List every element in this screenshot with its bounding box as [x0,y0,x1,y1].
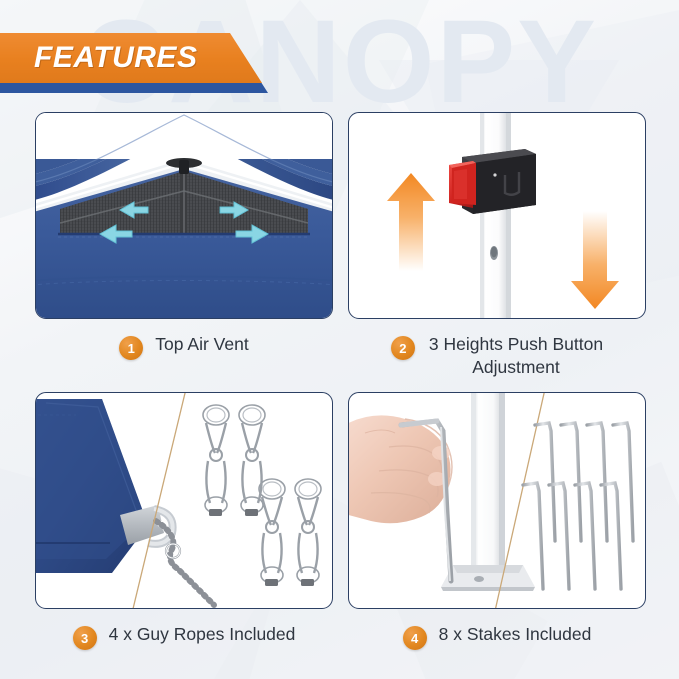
feature-card-top-air-vent: 1 Top Air Vent [35,112,333,360]
feature-card-guy-ropes: 3 4 x Guy Ropes Included [35,392,333,650]
coiled-rope-1 [203,405,229,516]
feature-badge-2: 2 [391,336,415,360]
feature-caption-line-2: Adjustment [429,356,603,379]
coiled-rope-3 [259,479,285,586]
red-push-button [449,161,476,208]
coiled-rope-4 [295,479,321,586]
feature-card-stakes: 4 8 x Stakes Included [348,392,646,650]
canopy-vent-svg [36,113,332,318]
push-button-svg [349,113,645,318]
feature-caption-1: 1 Top Air Vent [35,333,333,360]
feature-caption-3: 3 4 x Guy Ropes Included [35,623,333,650]
arrow-up-icon [387,173,435,271]
air-vent-illustration [36,113,332,318]
hand-illustration [349,415,452,523]
feature-caption-text-1: Top Air Vent [155,333,248,356]
feature-caption-4: 4 8 x Stakes Included [348,623,646,650]
coiled-rope-2 [239,405,265,516]
attached-guy-rope [156,521,214,605]
panel-divider-line [132,393,186,608]
feature-caption-text-3: 4 x Guy Ropes Included [109,623,296,646]
feature-badge-4: 4 [403,626,427,650]
stakes-svg [349,393,645,608]
rope-tensioner-2 [245,509,258,516]
guy-ropes-svg [36,393,332,608]
foot-plate-hole [474,576,484,582]
feature-caption-text-2: 3 Heights Push Button Adjustment [429,333,603,379]
feature-caption-text-4: 8 x Stakes Included [439,623,592,646]
feature-caption-2: 2 3 Heights Push Button Adjustment [348,333,646,379]
feature-badge-1: 1 [119,336,143,360]
rope-tensioner-4 [301,579,314,586]
feature-badge-3: 3 [73,626,97,650]
rope-tensioner-1 [209,509,222,516]
feature-caption-line-1: 3 Heights Push Button [429,333,603,356]
feature-image-panel-4 [348,392,646,609]
housing-dot [493,173,496,176]
feature-image-panel-2 [348,112,646,319]
feature-image-panel-3 [35,392,333,609]
feature-image-panel-1 [35,112,333,319]
header-banner: FEATURES [0,33,262,83]
rope-tensioner-3 [265,579,278,586]
feature-card-push-button-adjustment: 2 3 Heights Push Button Adjustment [348,112,646,379]
page-title: FEATURES [0,41,197,75]
arrow-down-icon [571,211,619,309]
